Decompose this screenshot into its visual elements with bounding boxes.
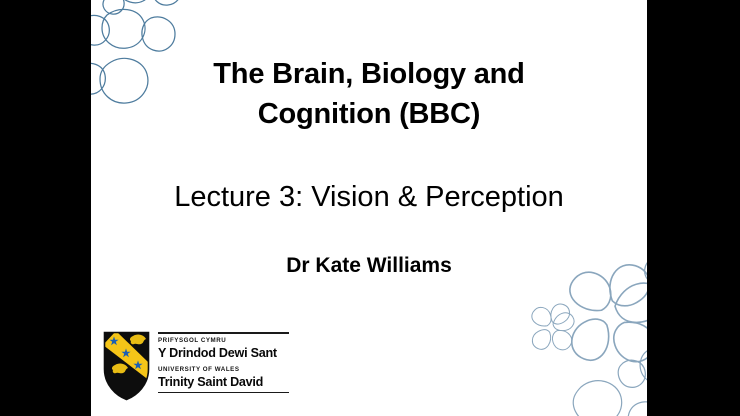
logo-wordmark: PRIFYSGOL CYMRU Y Drindod Dewi Sant UNIV…	[158, 331, 289, 393]
video-frame: The Brain, Biology and Cognition (BBC) L…	[0, 0, 740, 416]
logo-spacer	[158, 361, 289, 363]
logo-welsh-university-label: PRIFYSGOL CYMRU	[158, 336, 289, 346]
slide-author: Dr Kate Williams	[91, 252, 647, 280]
logo-rule-bottom	[158, 392, 289, 394]
coat-of-arms-shield-icon	[103, 331, 150, 401]
slide-title-line-1: The Brain, Biology and	[91, 54, 647, 94]
letterbox-bar-left	[0, 0, 91, 416]
slide-title-line-2: Cognition (BBC)	[91, 94, 647, 134]
logo-english-name: Trinity Saint David	[158, 375, 289, 390]
university-logo: PRIFYSGOL CYMRU Y Drindod Dewi Sant UNIV…	[103, 331, 289, 401]
slide-subtitle: Lecture 3: Vision & Perception	[91, 178, 647, 216]
letterbox-bar-right	[647, 0, 740, 416]
logo-welsh-name: Y Drindod Dewi Sant	[158, 346, 289, 361]
logo-rule-top	[158, 332, 289, 334]
logo-english-university-label: UNIVERSITY OF WALES	[158, 365, 289, 375]
presentation-slide: The Brain, Biology and Cognition (BBC) L…	[91, 0, 647, 416]
